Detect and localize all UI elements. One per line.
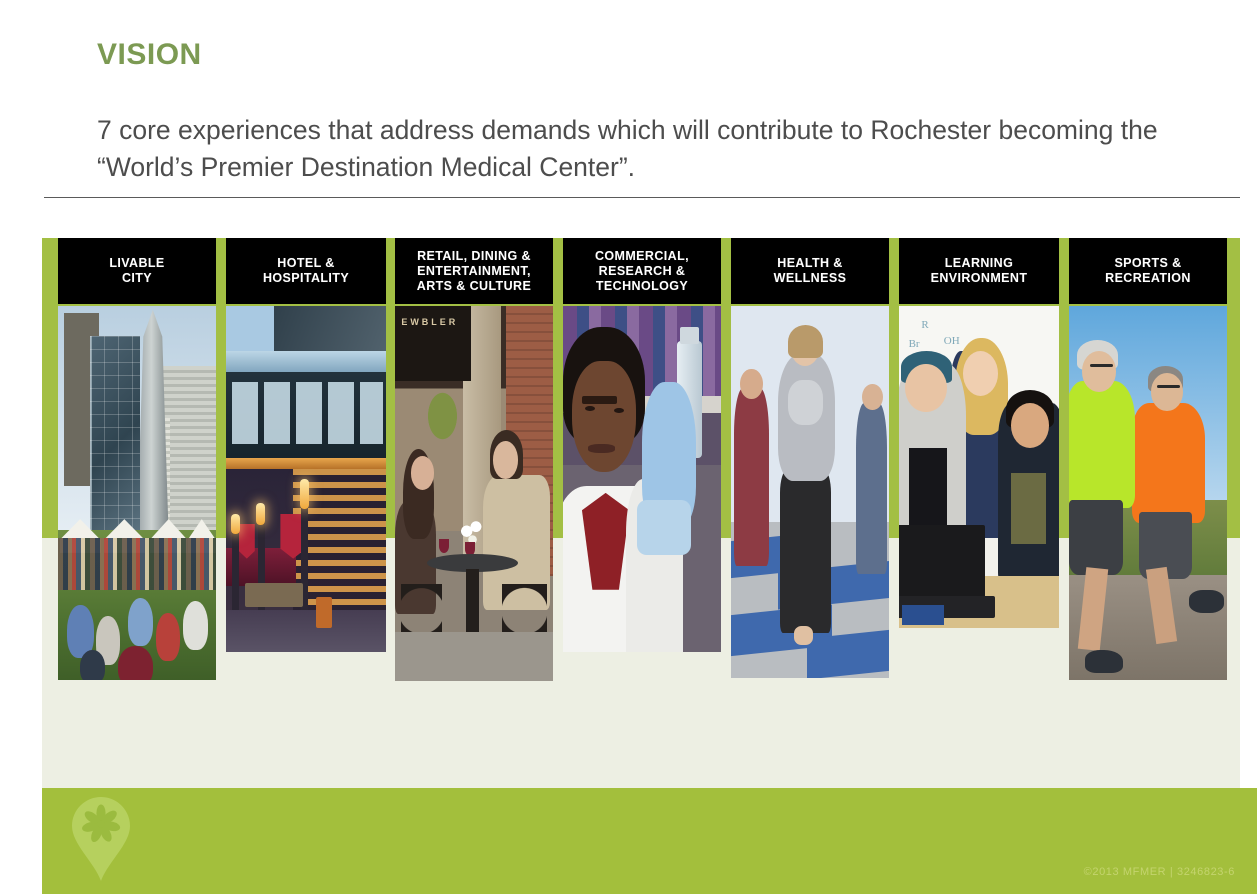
column-photo-hotel-hospitality xyxy=(226,306,386,652)
experience-column-retail-dining[interactable]: RETAIL, DINING & ENTERTAINMENT, ARTS & C… xyxy=(395,238,553,681)
column-header-commercial-research: COMMERCIAL, RESEARCH & TECHNOLOGY xyxy=(563,238,721,304)
column-label-line2: ENTERTAINMENT, xyxy=(413,264,535,279)
column-photo-retail-dining: EWBLER xyxy=(395,306,553,681)
experience-column-learning-environment[interactable]: LEARNING ENVIRONMENT Br H R OH xyxy=(899,238,1059,628)
column-header-retail-dining: RETAIL, DINING & ENTERTAINMENT, ARTS & C… xyxy=(395,238,553,304)
whiteboard-note-r: R xyxy=(921,319,928,331)
column-label-line3: ARTS & CULTURE xyxy=(413,279,535,294)
slide-header: VISION 7 core experiences that address d… xyxy=(0,0,1257,238)
column-label-line2: CITY xyxy=(105,271,168,286)
cafe-sign: EWBLER xyxy=(401,317,464,366)
column-label-line1: LEARNING xyxy=(927,256,1032,271)
column-label-line1: RETAIL, DINING & xyxy=(413,249,535,264)
column-photo-health-wellness xyxy=(731,306,889,678)
column-header-livable-city: LIVABLE CITY xyxy=(58,238,216,304)
experience-column-commercial-research[interactable]: COMMERCIAL, RESEARCH & TECHNOLOGY xyxy=(563,238,721,652)
whiteboard-note-br: Br xyxy=(909,338,920,350)
column-photo-sports-recreation xyxy=(1069,306,1227,680)
column-photo-learning-environment: Br H R OH xyxy=(899,306,1059,628)
copyright-notice: ©2013 MFMER | 3246823-6 xyxy=(1084,866,1235,878)
column-label-line1: SPORTS & xyxy=(1101,256,1195,271)
column-header-sports-recreation: SPORTS & RECREATION xyxy=(1069,238,1227,304)
column-label-line2: HOSPITALITY xyxy=(259,271,353,286)
whiteboard-note-oh: OH xyxy=(944,335,960,347)
footer-bar: ©2013 MFMER | 3246823-6 xyxy=(42,788,1257,894)
page-title: VISION xyxy=(97,38,202,72)
destination-medical-center-pin-logo xyxy=(68,796,134,882)
column-label-line2: ENVIRONMENT xyxy=(927,271,1032,286)
column-label-line1: COMMERCIAL, xyxy=(591,249,693,264)
column-photo-livable-city xyxy=(58,306,216,680)
column-header-health-wellness: HEALTH & WELLNESS xyxy=(731,238,889,304)
header-divider xyxy=(44,197,1240,198)
column-label-line2: RESEARCH & xyxy=(591,264,693,279)
column-label-line1: HOTEL & xyxy=(259,256,353,271)
column-header-learning-environment: LEARNING ENVIRONMENT xyxy=(899,238,1059,304)
experience-column-livable-city[interactable]: LIVABLE CITY xyxy=(58,238,216,680)
slide-subtitle: 7 core experiences that address demands … xyxy=(97,112,1222,186)
experiences-panel: LIVABLE CITY xyxy=(42,238,1240,788)
column-label-line3: TECHNOLOGY xyxy=(591,279,693,294)
experience-column-health-wellness[interactable]: HEALTH & WELLNESS xyxy=(731,238,889,678)
column-label-line2: RECREATION xyxy=(1101,271,1195,286)
column-label-line1: LIVABLE xyxy=(105,256,168,271)
column-label-line2: WELLNESS xyxy=(770,271,851,286)
experience-column-hotel-hospitality[interactable]: HOTEL & HOSPITALITY xyxy=(226,238,386,652)
column-photo-commercial-research xyxy=(563,306,721,652)
column-header-hotel-hospitality: HOTEL & HOSPITALITY xyxy=(226,238,386,304)
column-label-line1: HEALTH & xyxy=(770,256,851,271)
experience-column-sports-recreation[interactable]: SPORTS & RECREATION xyxy=(1069,238,1227,680)
